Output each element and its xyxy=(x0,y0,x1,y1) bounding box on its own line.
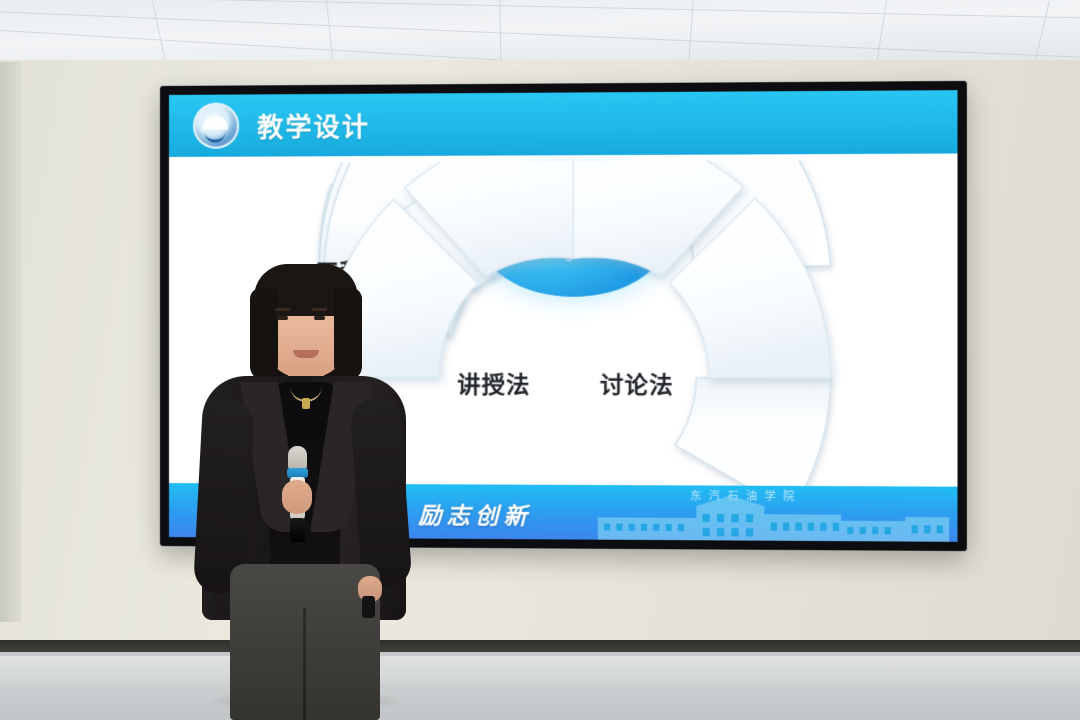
presentation-clicker xyxy=(362,596,375,618)
left-wall-return xyxy=(0,62,22,622)
presenter-trouser-seam xyxy=(303,608,306,720)
floor-reflection xyxy=(0,656,1080,686)
presenter-hand-holding-mic xyxy=(282,480,312,514)
microphone-base xyxy=(290,518,305,542)
slide-title: 教学设计 xyxy=(257,106,370,144)
presenter xyxy=(196,258,411,720)
microphone-head xyxy=(288,446,307,470)
campus-building-graphic xyxy=(598,491,949,542)
slide-header: 教学设计 xyxy=(169,90,958,157)
presenter-hair-right xyxy=(334,288,362,380)
presenter-eyebrow-right xyxy=(312,308,327,311)
presenter-eye-left xyxy=(277,316,288,320)
presenter-eye-right xyxy=(314,316,325,320)
presenter-hair-left xyxy=(250,288,278,380)
presenter-eyebrow-left xyxy=(275,308,290,311)
presenter-pendant xyxy=(302,398,310,409)
lecture-hall-scene: 教学设计 xyxy=(0,0,1080,720)
presenter-mouth xyxy=(293,350,319,358)
university-seal-logo xyxy=(193,103,239,149)
